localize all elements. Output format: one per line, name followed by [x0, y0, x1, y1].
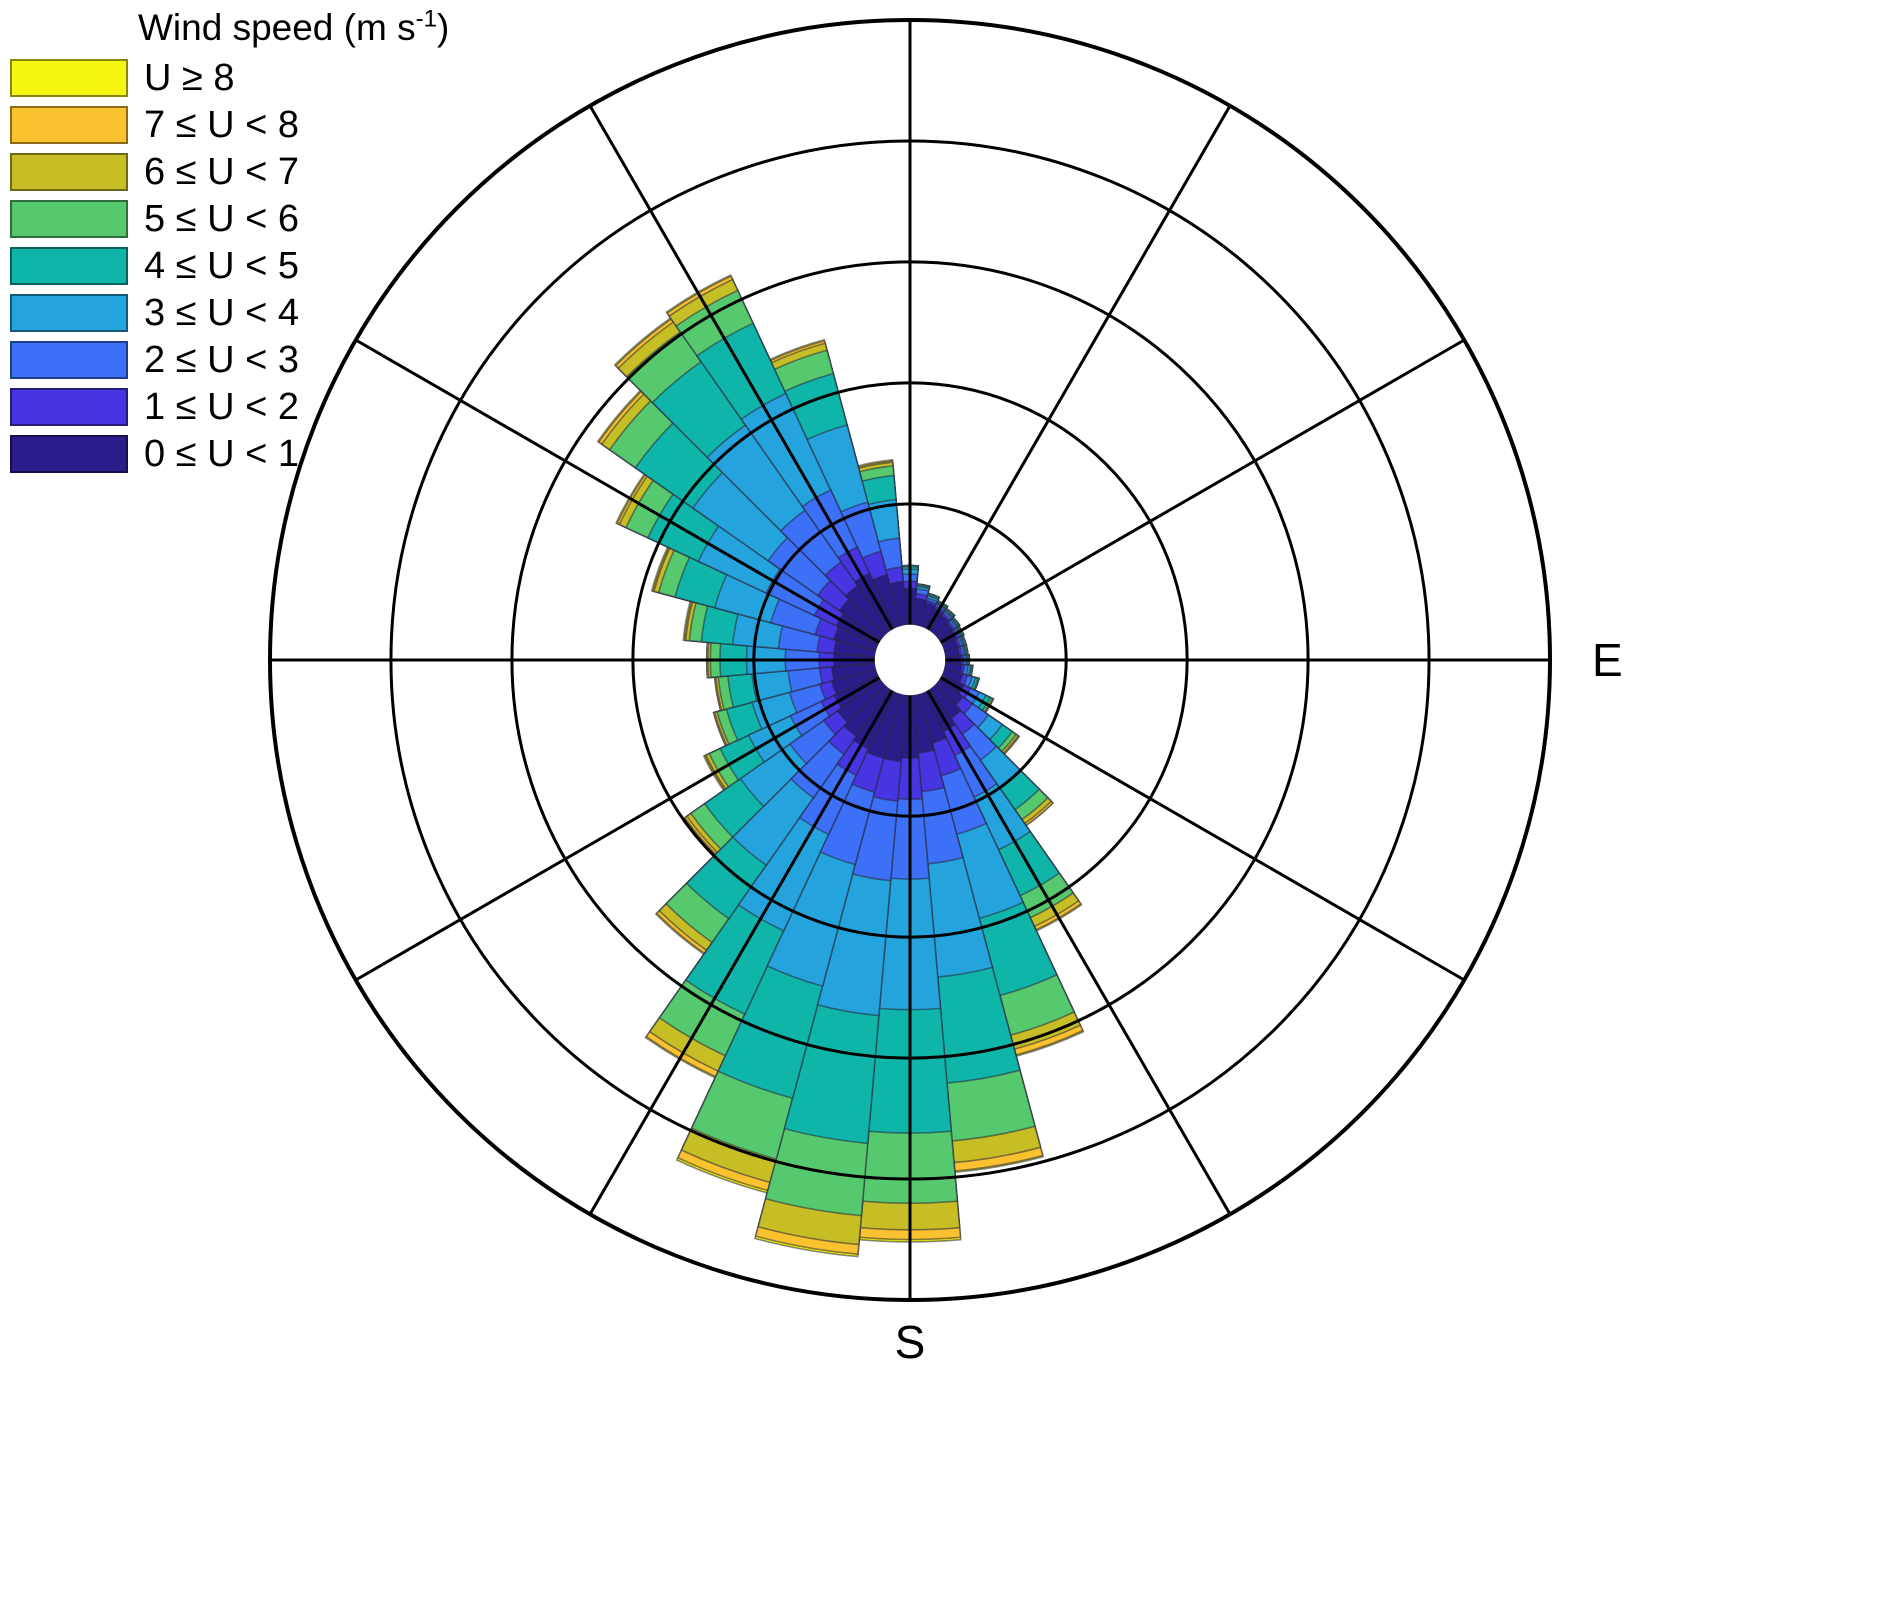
- legend-swatch-4-5: [10, 247, 128, 285]
- wind-rose-sectors: [598, 275, 1084, 1256]
- compass-label-east: E: [1592, 634, 1623, 686]
- wind-rose-figure: Wind speed (m s-1) U ≥ 87 ≤ U < 86 ≤ U <…: [0, 0, 1892, 1606]
- compass-label-south: S: [895, 1316, 926, 1368]
- legend-swatch-8+: [10, 59, 128, 97]
- legend-swatch-3-4: [10, 294, 128, 332]
- grid-spoke-60: [940, 340, 1464, 642]
- legend-swatch-6-7: [10, 153, 128, 191]
- centre-hole: [875, 625, 945, 695]
- legend-swatch-1-2: [10, 388, 128, 426]
- polar-grid: [270, 20, 1550, 1300]
- legend-swatch-0-1: [10, 435, 128, 473]
- legend-label-8+: U ≥ 8: [144, 59, 235, 97]
- legend-swatch-2-3: [10, 341, 128, 379]
- grid-spoke-30: [928, 106, 1230, 630]
- wind-rose-svg: NESW: [250, 0, 1670, 1400]
- polar-plot: NESW: [250, 0, 1670, 1400]
- legend-swatch-5-6: [10, 200, 128, 238]
- legend-swatch-7-8: [10, 106, 128, 144]
